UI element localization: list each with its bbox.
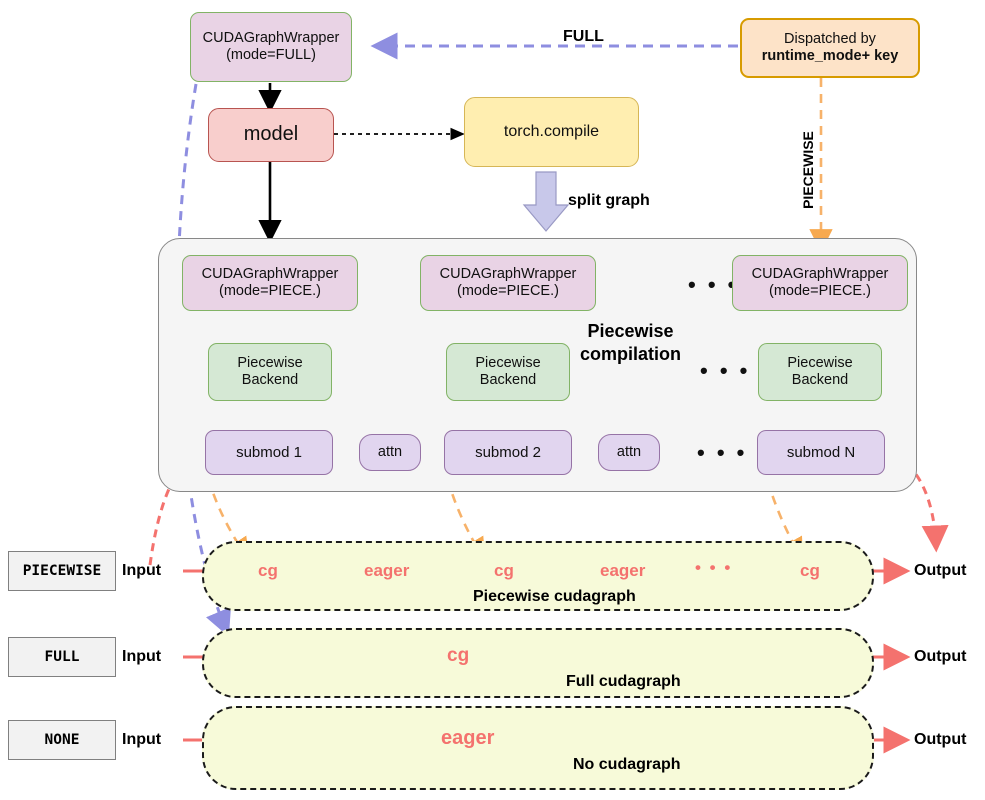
backend-n-line1: Piecewise bbox=[787, 355, 852, 372]
cudagraph-wrapper-piece-n[interactable]: CUDAGraphWrapper (mode=PIECE.) bbox=[732, 255, 908, 311]
piecewise-step-4: • • • bbox=[695, 558, 732, 578]
wrapper-1-line1: CUDAGraphWrapper bbox=[202, 266, 339, 283]
backend-2-line1: Piecewise bbox=[475, 355, 540, 372]
piecewise-edge-label: PIECEWISE bbox=[800, 110, 816, 230]
wrapper-full-line2: (mode=FULL) bbox=[203, 47, 340, 64]
none-input-label: Input bbox=[122, 731, 161, 749]
piecewise-compilation-title: Piecewise compilation bbox=[580, 320, 681, 365]
full-output-label: Output bbox=[914, 648, 966, 666]
none-lane bbox=[202, 706, 874, 790]
mode-chip-none[interactable]: NONE bbox=[8, 720, 116, 760]
mode-chip-full[interactable]: FULL bbox=[8, 637, 116, 677]
none-step-0: eager bbox=[441, 727, 494, 750]
dispatch-line2: runtime_mode+ key bbox=[762, 48, 899, 65]
wrapper-2-line1: CUDAGraphWrapper bbox=[440, 266, 577, 283]
wrapper-full-line1: CUDAGraphWrapper bbox=[203, 30, 340, 47]
mode-chip-piecewise[interactable]: PIECEWISE bbox=[8, 551, 116, 591]
attn-2-node[interactable]: attn bbox=[598, 434, 660, 471]
submod-1-node[interactable]: submod 1 bbox=[205, 430, 333, 475]
full-input-label: Input bbox=[122, 648, 161, 666]
attn-1-label: attn bbox=[378, 444, 402, 461]
piecewise-title-line1: Piecewise bbox=[580, 320, 681, 343]
group-backend-ellipsis: • • • bbox=[700, 358, 750, 384]
torch-compile-node[interactable]: torch.compile bbox=[464, 97, 639, 167]
backend-n-line2: Backend bbox=[787, 372, 852, 389]
submod-n-label: submod N bbox=[787, 444, 855, 462]
wrapper-2-line2: (mode=PIECE.) bbox=[440, 283, 577, 300]
diagram-canvas: CUDAGraphWrapper (mode=FULL) model torch… bbox=[0, 0, 985, 800]
full-lane bbox=[202, 628, 874, 698]
attn-1-node[interactable]: attn bbox=[359, 434, 421, 471]
dispatch-line1: Dispatched by bbox=[762, 31, 899, 48]
full-step-0: cg bbox=[447, 645, 469, 667]
mode-chip-none-label: NONE bbox=[45, 732, 80, 748]
submod-1-label: submod 1 bbox=[236, 444, 302, 462]
model-node[interactable]: model bbox=[208, 108, 334, 162]
piecewise-step-1: eager bbox=[364, 561, 409, 581]
piecewise-step-5: cg bbox=[800, 561, 820, 581]
wrapper-n-line1: CUDAGraphWrapper bbox=[752, 266, 889, 283]
mode-chip-piecewise-label: PIECEWISE bbox=[23, 563, 102, 579]
submod-2-node[interactable]: submod 2 bbox=[444, 430, 572, 475]
group-submod-ellipsis: • • • bbox=[697, 440, 747, 466]
piecewise-step-3: eager bbox=[600, 561, 645, 581]
full-lane-caption: Full cudagraph bbox=[566, 673, 681, 691]
submod-2-label: submod 2 bbox=[475, 444, 541, 462]
piecewise-backend-2[interactable]: Piecewise Backend bbox=[446, 343, 570, 401]
piecewise-step-0: cg bbox=[258, 561, 278, 581]
backend-1-line1: Piecewise bbox=[237, 355, 302, 372]
cudagraph-wrapper-piece-1[interactable]: CUDAGraphWrapper (mode=PIECE.) bbox=[182, 255, 358, 311]
backend-2-line2: Backend bbox=[475, 372, 540, 389]
submod-n-node[interactable]: submod N bbox=[757, 430, 885, 475]
cudagraph-wrapper-piece-2[interactable]: CUDAGraphWrapper (mode=PIECE.) bbox=[420, 255, 596, 311]
backend-1-line2: Backend bbox=[237, 372, 302, 389]
piecewise-backend-1[interactable]: Piecewise Backend bbox=[208, 343, 332, 401]
model-label: model bbox=[244, 123, 298, 147]
torch-compile-label: torch.compile bbox=[504, 123, 599, 142]
piecewise-output-label: Output bbox=[914, 562, 966, 580]
piecewise-backend-n[interactable]: Piecewise Backend bbox=[758, 343, 882, 401]
attn-2-label: attn bbox=[617, 444, 641, 461]
piecewise-lane-caption: Piecewise cudagraph bbox=[473, 588, 636, 606]
full-edge-label: FULL bbox=[563, 28, 604, 46]
group-wrapper-ellipsis: • • • bbox=[688, 272, 738, 298]
wrapper-n-line2: (mode=PIECE.) bbox=[752, 283, 889, 300]
mode-chip-full-label: FULL bbox=[45, 649, 80, 665]
none-lane-caption: No cudagraph bbox=[573, 756, 681, 774]
piecewise-title-line2: compilation bbox=[580, 343, 681, 366]
wrapper-1-line2: (mode=PIECE.) bbox=[202, 283, 339, 300]
none-output-label: Output bbox=[914, 731, 966, 749]
cudagraph-wrapper-full-node[interactable]: CUDAGraphWrapper (mode=FULL) bbox=[190, 12, 352, 82]
split-graph-label: split graph bbox=[568, 192, 650, 210]
dispatch-node[interactable]: Dispatched by runtime_mode+ key bbox=[740, 18, 920, 78]
piecewise-step-2: cg bbox=[494, 561, 514, 581]
piecewise-input-label: Input bbox=[122, 562, 161, 580]
